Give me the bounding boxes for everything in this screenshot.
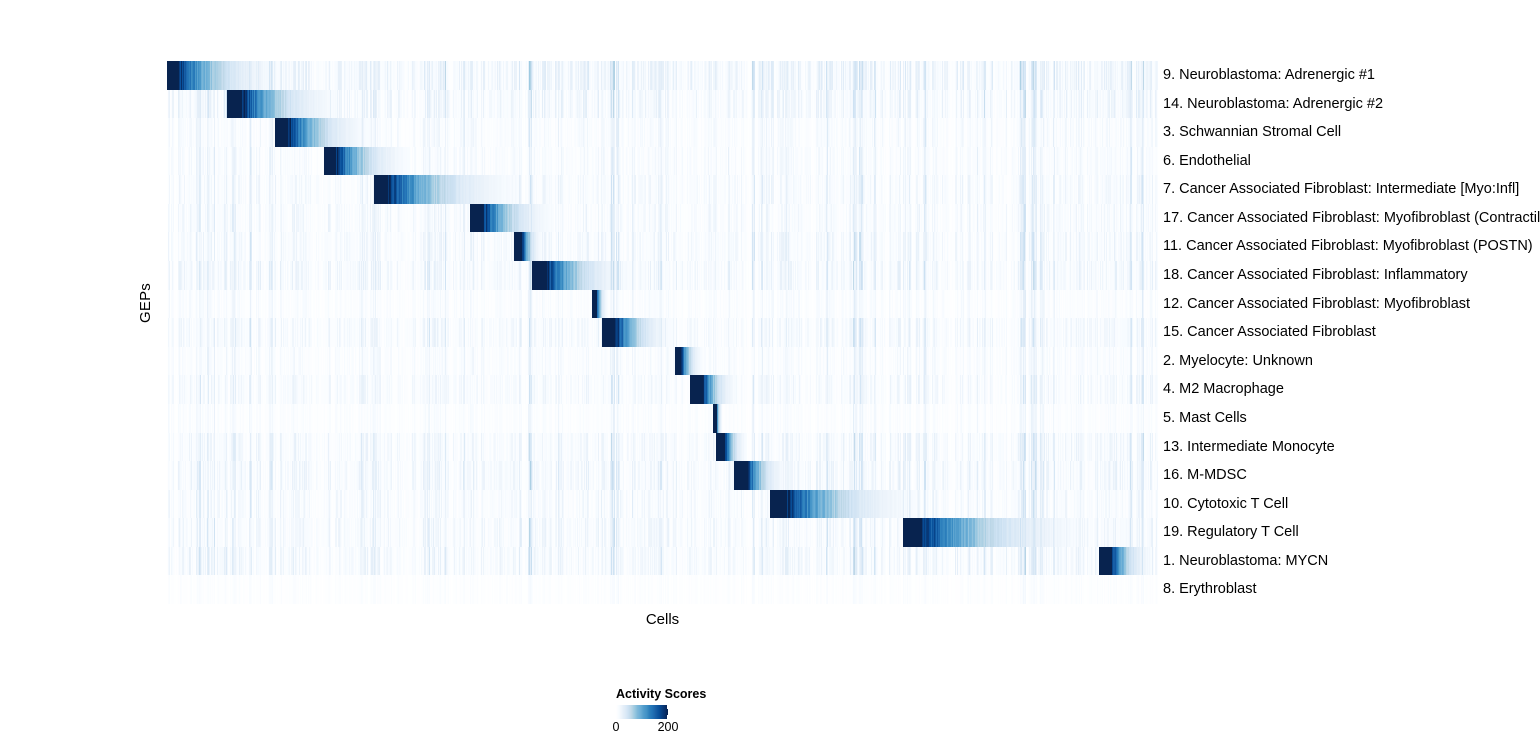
heatmap-row-canvas [167, 404, 1158, 433]
heatmap-row-canvas [167, 547, 1158, 576]
colorbar-tick-labels: 0200 [616, 720, 696, 736]
heatmap-row-label: 12. Cancer Associated Fibroblast: Myofib… [1163, 290, 1540, 319]
heatmap-row-label: 18. Cancer Associated Fibroblast: Inflam… [1163, 261, 1540, 290]
colorbar-title: Activity Scores [616, 687, 816, 701]
heatmap-row-label: 14. Neuroblastoma: Adrenergic #2 [1163, 90, 1540, 119]
heatmap-row-canvas [167, 90, 1158, 119]
heatmap-row-label: 4. M2 Macrophage [1163, 375, 1540, 404]
heatmap-row-label: 11. Cancer Associated Fibroblast: Myofib… [1163, 232, 1540, 261]
heatmap-row [167, 490, 1158, 519]
heatmap-row-canvas [167, 204, 1158, 233]
heatmap-row [167, 147, 1158, 176]
heatmap-row-label: 8. Erythroblast [1163, 575, 1540, 604]
heatmap-row-canvas [167, 147, 1158, 176]
heatmap-row-label: 3. Schwannian Stromal Cell [1163, 118, 1540, 147]
heatmap-row-label: 1. Neuroblastoma: MYCN [1163, 547, 1540, 576]
heatmap-row-canvas [167, 347, 1158, 376]
y-axis-title: GEPs [137, 283, 157, 323]
colorbar-canvas [616, 705, 668, 719]
heatmap-row [167, 90, 1158, 119]
colorbar-tick-label: 200 [658, 720, 679, 734]
heatmap-row [167, 433, 1158, 462]
heatmap-row-canvas [167, 575, 1158, 604]
heatmap-row [167, 290, 1158, 319]
heatmap-row-canvas [167, 518, 1158, 547]
heatmap-row-label: 13. Intermediate Monocyte [1163, 433, 1540, 462]
heatmap-row-label: 2. Myelocyte: Unknown [1163, 347, 1540, 376]
heatmap-row-label: 5. Mast Cells [1163, 404, 1540, 433]
heatmap-row-canvas [167, 375, 1158, 404]
heatmap-row-canvas [167, 175, 1158, 204]
heatmap-row-label: 19. Regulatory T Cell [1163, 518, 1540, 547]
heatmap-row [167, 375, 1158, 404]
heatmap-row-label: 10. Cytotoxic T Cell [1163, 490, 1540, 519]
heatmap-row-canvas [167, 232, 1158, 261]
heatmap-row-label: 6. Endothelial [1163, 147, 1540, 176]
heatmap-row-label: 16. M-MDSC [1163, 461, 1540, 490]
heatmap-row [167, 461, 1158, 490]
heatmap-row-canvas [167, 433, 1158, 462]
colorbar-legend: Activity Scores 0200 [616, 687, 816, 736]
heatmap-row [167, 347, 1158, 376]
heatmap-row-label: 15. Cancer Associated Fibroblast [1163, 318, 1540, 347]
heatmap-row-canvas [167, 490, 1158, 519]
heatmap-row-canvas [167, 261, 1158, 290]
heatmap-row [167, 575, 1158, 604]
heatmap-row [167, 204, 1158, 233]
heatmap-row [167, 518, 1158, 547]
heatmap-figure: GEPs 9. Neuroblastoma: Adrenergic #114. … [0, 0, 1540, 743]
heatmap-row-labels: 9. Neuroblastoma: Adrenergic #114. Neuro… [1163, 61, 1540, 604]
heatmap-row-canvas [167, 318, 1158, 347]
heatmap-row-label: 7. Cancer Associated Fibroblast: Interme… [1163, 175, 1540, 204]
heatmap-row [167, 118, 1158, 147]
heatmap-row-canvas [167, 461, 1158, 490]
heatmap-row-canvas [167, 61, 1158, 90]
colorbar-gradient [616, 705, 668, 719]
heatmap-row-canvas [167, 290, 1158, 319]
x-axis-title: Cells [167, 611, 1158, 628]
heatmap-row [167, 175, 1158, 204]
heatmap-row [167, 261, 1158, 290]
heatmap-row [167, 232, 1158, 261]
heatmap-row-label: 9. Neuroblastoma: Adrenergic #1 [1163, 61, 1540, 90]
colorbar-tick-mark [667, 715, 668, 719]
colorbar-tick-label: 0 [613, 720, 620, 734]
heatmap-row [167, 547, 1158, 576]
heatmap-row-label: 17. Cancer Associated Fibroblast: Myofib… [1163, 204, 1540, 233]
colorbar-bar-wrapper [616, 705, 668, 719]
heatmap-row [167, 318, 1158, 347]
heatmap-row [167, 404, 1158, 433]
heatmap-plot-area [167, 61, 1158, 604]
heatmap-row [167, 61, 1158, 90]
colorbar-tick-mark [667, 705, 668, 709]
heatmap-row-canvas [167, 118, 1158, 147]
